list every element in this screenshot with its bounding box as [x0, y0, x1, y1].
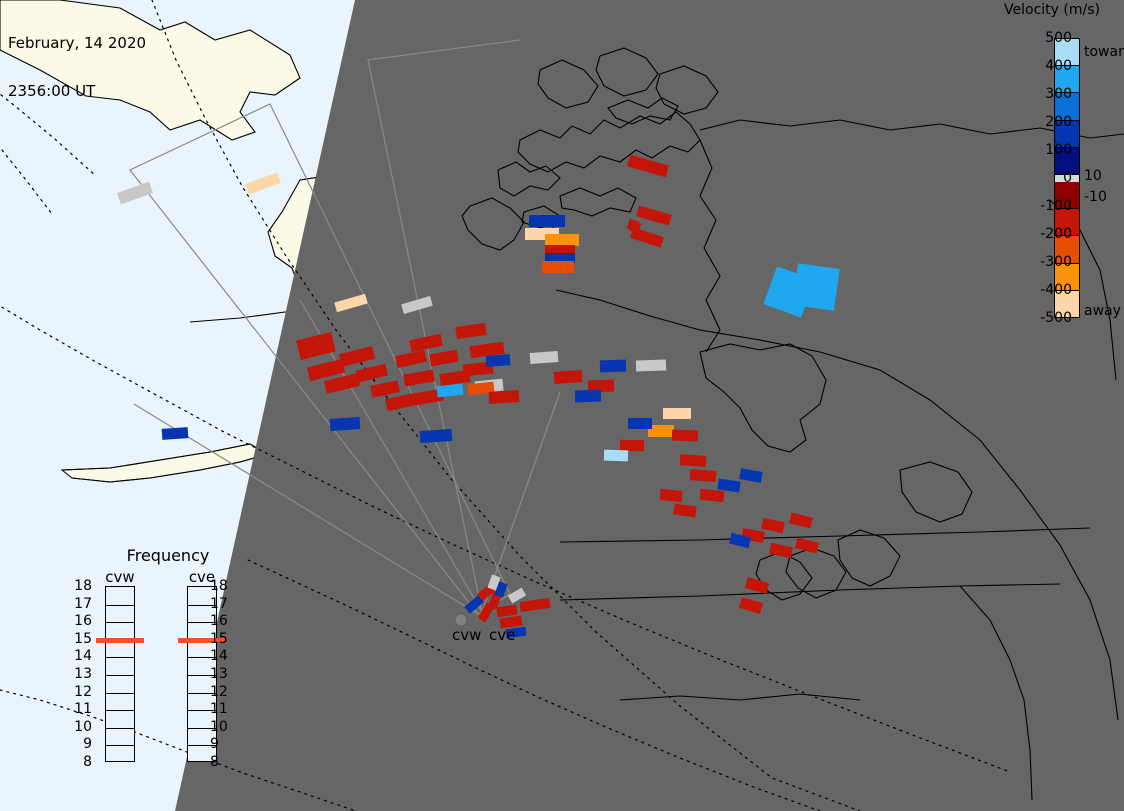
- frequency-scale-label: 17: [74, 596, 92, 612]
- radar-site-marker: [455, 614, 467, 626]
- frequency-gridline: [106, 605, 134, 606]
- timestamp-date: February, 14 2020: [8, 35, 146, 51]
- timestamp-time: 2356:00 UT: [8, 83, 146, 99]
- velocity-legend-title: Velocity (m/s): [980, 2, 1124, 18]
- frequency-scale-label: 14: [210, 648, 228, 664]
- frequency-gauge-cvw: [105, 586, 135, 762]
- timestamp-overlay: February, 14 2020 2356:00 UT: [8, 3, 146, 131]
- frequency-scale-label: 10: [210, 719, 228, 735]
- velocity-tick-label: -200: [1040, 226, 1072, 242]
- frequency-scale-label: 8: [74, 754, 92, 770]
- velocity-tick-label: 0: [1063, 170, 1072, 186]
- radar-echo-cell: [554, 370, 583, 384]
- velocity-threshold-lower: -10: [1084, 189, 1107, 205]
- velocity-tick-label: 300: [1045, 86, 1072, 102]
- radar-echo-cell: [620, 440, 644, 452]
- velocity-tick-label: 400: [1045, 58, 1072, 74]
- frequency-scale-label: 10: [74, 719, 92, 735]
- frequency-scale-label: 15: [210, 631, 228, 647]
- radar-echo-cell: [486, 354, 511, 367]
- velocity-tick-label: -300: [1040, 254, 1072, 270]
- velocity-tick-label: 500: [1045, 30, 1072, 46]
- frequency-scale-label: 12: [74, 684, 92, 700]
- radar-echo-cell: [330, 417, 361, 431]
- radar-echo-cell: [690, 469, 717, 482]
- velocity-tick-label: 100: [1045, 142, 1072, 158]
- frequency-gridline: [106, 710, 134, 711]
- radar-echo-cell: [604, 450, 628, 462]
- frequency-gridline: [106, 728, 134, 729]
- radar-echo-cell: [162, 427, 189, 440]
- frequency-scale-label: 13: [74, 666, 92, 682]
- frequency-value-marker: [96, 638, 144, 643]
- frequency-gridline: [106, 657, 134, 658]
- frequency-column-cvw: cvw: [94, 568, 146, 762]
- frequency-scale-label: 11: [74, 701, 92, 717]
- frequency-scale-label: 12: [210, 684, 228, 700]
- frequency-legend-title: Frequency: [88, 546, 248, 565]
- velocity-tick-label: -100: [1040, 198, 1072, 214]
- frequency-scale-label: 15: [74, 631, 92, 647]
- frequency-scale-label: 9: [74, 736, 92, 752]
- frequency-scale-label: 18: [210, 578, 228, 594]
- velocity-threshold-upper: 10: [1084, 168, 1102, 184]
- frequency-legend: Frequency cvw cve 18171615141312111098 1…: [88, 546, 248, 786]
- frequency-gridline: [106, 675, 134, 676]
- radar-echo-cell: [636, 359, 666, 371]
- radar-echo-cell: [489, 390, 520, 404]
- station-label-cvw: cvw: [452, 626, 481, 644]
- velocity-tick-label: -500: [1040, 310, 1072, 326]
- radar-echo-cell: [529, 215, 565, 227]
- radar-echo-cell: [575, 390, 601, 403]
- radar-echo-cell: [545, 234, 579, 246]
- frequency-scale-label: 9: [210, 736, 228, 752]
- radar-echo-cell: [628, 418, 652, 429]
- radar-echo-cell: [663, 408, 691, 419]
- frequency-scale-label: 13: [210, 666, 228, 682]
- velocity-away-label: away: [1084, 303, 1121, 319]
- frequency-scale-label: 16: [210, 613, 228, 629]
- frequency-column-cvw-caption: cvw: [94, 568, 146, 586]
- frequency-scale-label: 8: [210, 754, 228, 770]
- radar-echo-cell: [420, 429, 453, 443]
- frequency-gridline: [106, 693, 134, 694]
- frequency-scale-label: 18: [74, 578, 92, 594]
- velocity-tick-label: -400: [1040, 282, 1072, 298]
- velocity-toward-label: toward: [1084, 44, 1124, 60]
- frequency-gridline: [106, 745, 134, 746]
- frequency-gridline: [106, 622, 134, 623]
- radar-echo-cell: [672, 430, 698, 442]
- frequency-scale-label: 16: [74, 613, 92, 629]
- frequency-scale-label: 17: [210, 596, 228, 612]
- velocity-tick-label: 200: [1045, 114, 1072, 130]
- radar-echo-cell: [659, 489, 682, 502]
- radar-echo-cell: [600, 360, 626, 373]
- station-label-cve: cve: [489, 626, 515, 644]
- radar-echo-cell: [530, 351, 559, 364]
- frequency-scale-label: 11: [210, 701, 228, 717]
- velocity-legend: Velocity (m/s) 5004003002001000-100-200-…: [976, 0, 1124, 811]
- radar-echo-cell: [542, 261, 574, 273]
- radar-echo-cell: [792, 263, 839, 310]
- radar-echo-cell: [680, 454, 707, 467]
- frequency-scale-label: 14: [74, 648, 92, 664]
